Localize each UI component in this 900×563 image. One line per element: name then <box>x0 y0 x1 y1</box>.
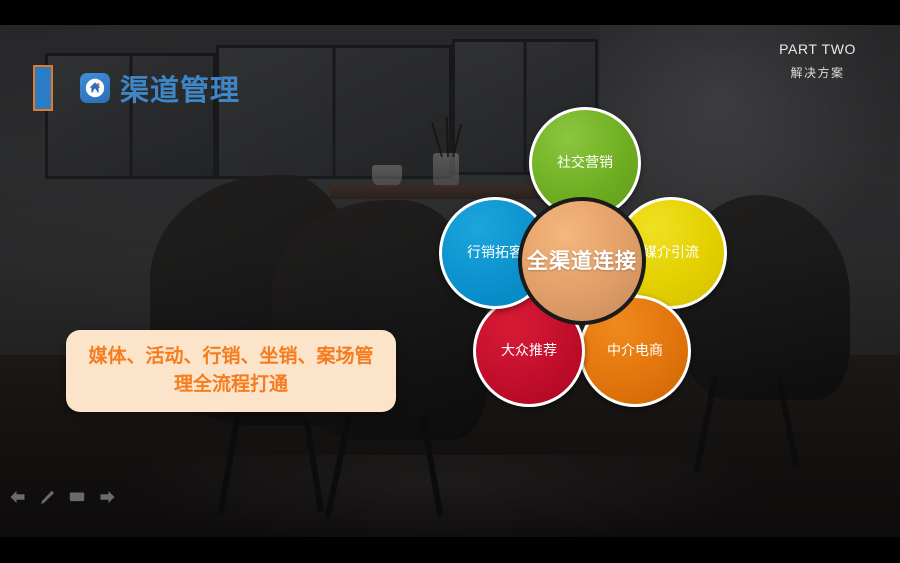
title-accent-bar <box>33 65 53 111</box>
callout-text: 媒体、活动、行销、坐销、案场管理全流程打通 <box>66 343 396 398</box>
slide-menu-icon[interactable] <box>68 489 86 505</box>
section-label-en: PART TWO <box>779 41 856 57</box>
section-label: PART TWO 解决方案 <box>779 41 856 81</box>
petal-label: 社交营销 <box>543 154 627 173</box>
petal-label: 中介电商 <box>593 342 677 361</box>
hub-label: 全渠道连接 <box>527 248 637 274</box>
previous-slide-icon[interactable] <box>8 489 26 505</box>
slideshow-toolbar <box>8 489 116 505</box>
home-shield-icon <box>80 73 110 103</box>
petal-label: 大众推荐 <box>487 342 571 361</box>
next-slide-icon[interactable] <box>98 489 116 505</box>
diagram-hub[interactable]: 全渠道连接 <box>518 197 646 325</box>
slide-canvas: 渠道管理 PART TWO 解决方案 社交营销 媒介引流 中介电商 大众推荐 行… <box>0 25 900 537</box>
callout-box: 媒体、活动、行销、坐销、案场管理全流程打通 <box>66 330 396 412</box>
slide-title-block: 渠道管理 <box>33 65 240 111</box>
letterbox-bottom <box>0 537 900 563</box>
flower-diagram: 社交营销 媒介引流 中介电商 大众推荐 行销拓客 全渠道连接 <box>437 105 747 415</box>
page-title: 渠道管理 <box>120 67 240 109</box>
pen-annotate-icon[interactable] <box>38 489 56 505</box>
presentation-stage: 渠道管理 PART TWO 解决方案 社交营销 媒介引流 中介电商 大众推荐 行… <box>0 0 900 563</box>
letterbox-top <box>0 0 900 25</box>
section-label-cn: 解决方案 <box>779 64 856 81</box>
